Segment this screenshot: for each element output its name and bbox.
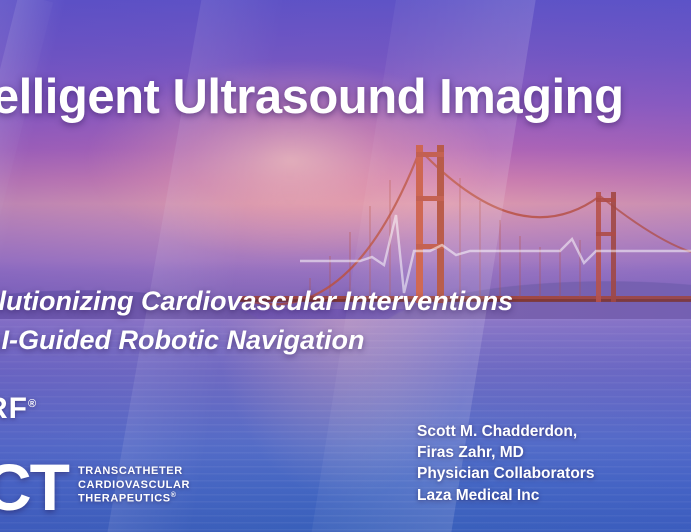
slide-subtitle: olutionizing Cardiovascular Intervention…: [0, 282, 691, 360]
tct-logo: CT TRANSCATHETER CARDIOVASCULAR THERAPEU…: [0, 460, 190, 514]
tct-logo-mark: CT: [0, 460, 68, 514]
tct-logo-wordmark: TRANSCATHETER CARDIOVASCULAR THERAPEUTIC…: [78, 465, 190, 507]
author-block: Scott M. Chadderdon, Firas Zahr, MD Phys…: [417, 421, 677, 507]
author-role: Physician Collaborators: [417, 463, 677, 484]
crf-registered-mark: ®: [28, 398, 37, 410]
crf-logo: RF®: [0, 392, 37, 426]
ecg-waveform-icon: [0, 181, 691, 298]
author-name-secondary: Firas Zahr, MD: [417, 442, 677, 463]
slide-subtitle-line-1: olutionizing Cardiovascular Intervention…: [0, 286, 513, 316]
tct-wordmark-line-3: THERAPEUTICS®: [78, 492, 190, 506]
presentation-slide: telligent Ultrasound Imaging olutionizin…: [0, 0, 691, 532]
tct-wordmark-line-2: CARDIOVASCULAR: [78, 479, 190, 493]
tct-registered-mark: ®: [171, 492, 177, 499]
author-name-primary: Scott M. Chadderdon,: [417, 421, 677, 442]
slide-subtitle-line-2: AI-Guided Robotic Navigation: [0, 321, 691, 360]
tct-wordmark-line-1: TRANSCATHETER: [78, 465, 190, 479]
slide-title: telligent Ultrasound Imaging: [0, 72, 691, 124]
author-affiliation: Laza Medical Inc: [417, 485, 677, 506]
crf-logo-text: RF: [0, 392, 28, 425]
